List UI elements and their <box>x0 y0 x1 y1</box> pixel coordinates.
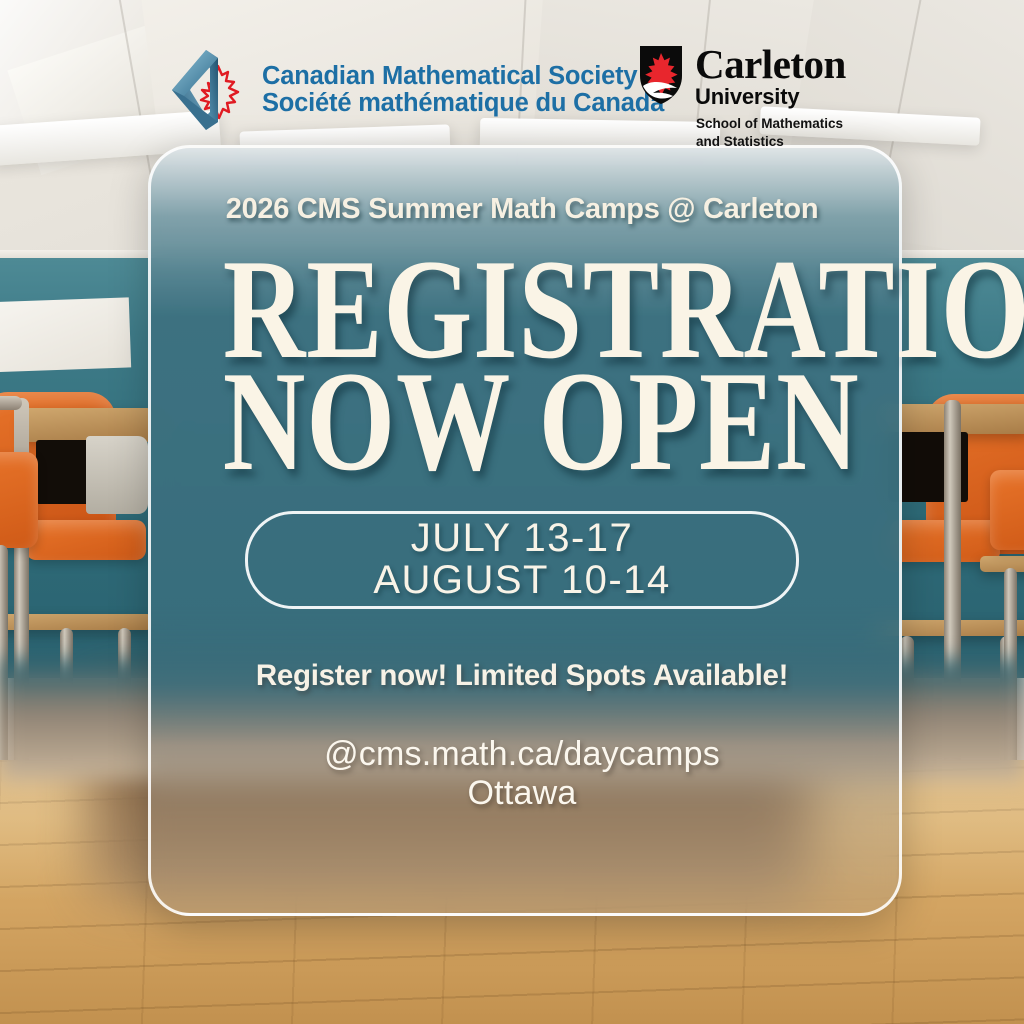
call-to-action-text: Register now! Limited Spots Available! <box>148 659 896 693</box>
carleton-university-label: University <box>695 86 846 108</box>
cms-logo: Canadian Mathematical Society Société ma… <box>152 44 622 136</box>
whiteboard <box>0 297 131 372</box>
logo-bar: Canadian Mathematical Society Société ma… <box>0 18 1024 128</box>
carleton-name: Carleton <box>695 44 846 85</box>
event-kicker: 2026 CMS Summer Math Camps @ Carleton <box>206 193 838 227</box>
carleton-logo: Carleton University School of Mathematic… <box>636 44 936 144</box>
poster-canvas: Canadian Mathematical Society Société ma… <box>0 0 1024 1024</box>
panel-content: 2026 CMS Summer Math Camps @ Carleton RE… <box>148 145 896 910</box>
department-line-1: School of Mathematics <box>696 115 936 133</box>
session-2-dates: AUGUST 10-14 <box>373 560 670 602</box>
cms-name-en: Canadian Mathematical Society <box>262 63 664 90</box>
cms-logo-wordmark: Canadian Mathematical Society Société ma… <box>262 63 664 117</box>
contact-block: @cms.math.ca/daycamps Ottawa <box>148 735 896 814</box>
cms-penrose-triangle-maple-leaf-logo <box>152 44 252 136</box>
session-dates-pill: JULY 13-17 AUGUST 10-14 <box>245 511 799 609</box>
location-label: Ottawa <box>148 774 896 813</box>
cms-name-fr: Société mathématique du Canada <box>262 90 664 117</box>
session-1-dates: JULY 13-17 <box>411 518 634 560</box>
registration-url[interactable]: @cms.math.ca/daycamps <box>148 735 896 774</box>
headline-line-2: NOW OPEN <box>223 361 821 481</box>
carleton-shield-maple-leaf-logo <box>636 44 686 106</box>
carleton-wordmark: Carleton University <box>695 44 846 108</box>
